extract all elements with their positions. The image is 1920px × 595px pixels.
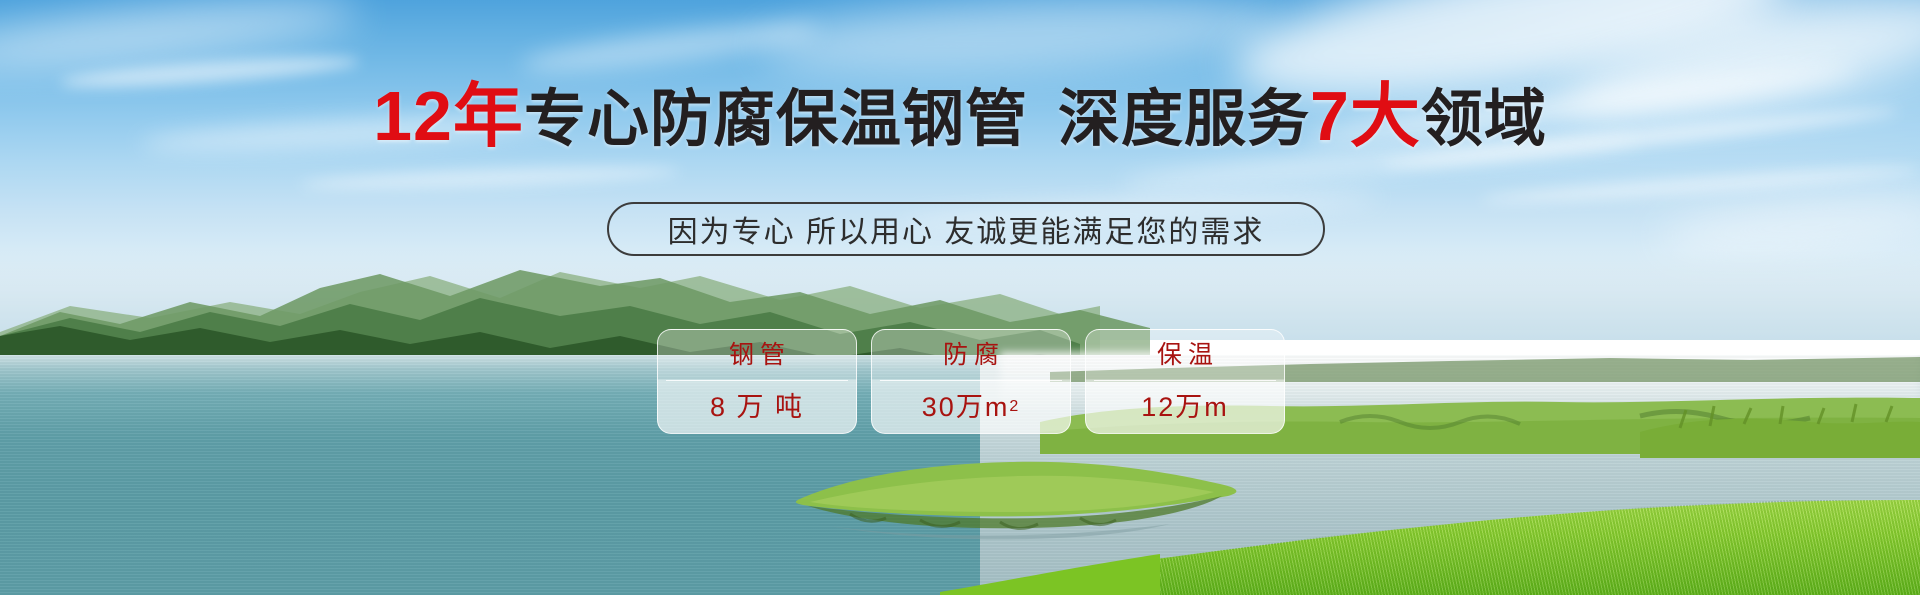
subtitle-pill: 因为专心 所以用心 友诚更能满足您的需求 — [607, 202, 1325, 256]
marsh-reed-clump — [1640, 398, 1920, 463]
stat-card-title: 保温 — [1151, 330, 1219, 380]
stat-card-value: 12万m — [1141, 380, 1229, 434]
stat-card-group: 钢管 8 万 吨 防腐 30万m2 保温 12万m — [657, 329, 1285, 434]
stat-card-number: 12万m — [1141, 380, 1229, 434]
stat-card-insulation[interactable]: 保温 12万m — [1085, 329, 1285, 434]
subtitle-text: 因为专心 所以用心 友诚更能满足您的需求 — [668, 207, 1265, 251]
headline-fields: 领域 — [1421, 85, 1547, 154]
headline-years: 12年 — [373, 77, 524, 155]
stat-card-number: 30万m — [922, 380, 1010, 434]
stat-card-steel-pipe[interactable]: 钢管 8 万 吨 — [657, 329, 857, 434]
foreground-grass-left-edge — [940, 548, 1160, 595]
headline-seven: 7大 — [1310, 77, 1421, 155]
headline-main: 专心防腐保温钢管 — [524, 85, 1028, 154]
stat-card-exponent: 2 — [1009, 399, 1020, 415]
hero-banner: 12年专心防腐保温钢管深度服务7大领域 因为专心 所以用心 友诚更能满足您的需求… — [0, 0, 1920, 595]
stat-card-number: 8 万 吨 — [710, 380, 804, 434]
stat-card-value: 8 万 吨 — [710, 380, 804, 434]
stat-card-title: 防腐 — [937, 330, 1005, 380]
stat-card-title: 钢管 — [723, 330, 791, 380]
page-title: 12年专心防腐保温钢管深度服务7大领域 — [0, 80, 1920, 156]
stat-card-value: 30万m2 — [922, 380, 1020, 434]
stat-card-anticorrosion[interactable]: 防腐 30万m2 — [871, 329, 1071, 434]
headline-service: 深度服务 — [1058, 85, 1310, 154]
